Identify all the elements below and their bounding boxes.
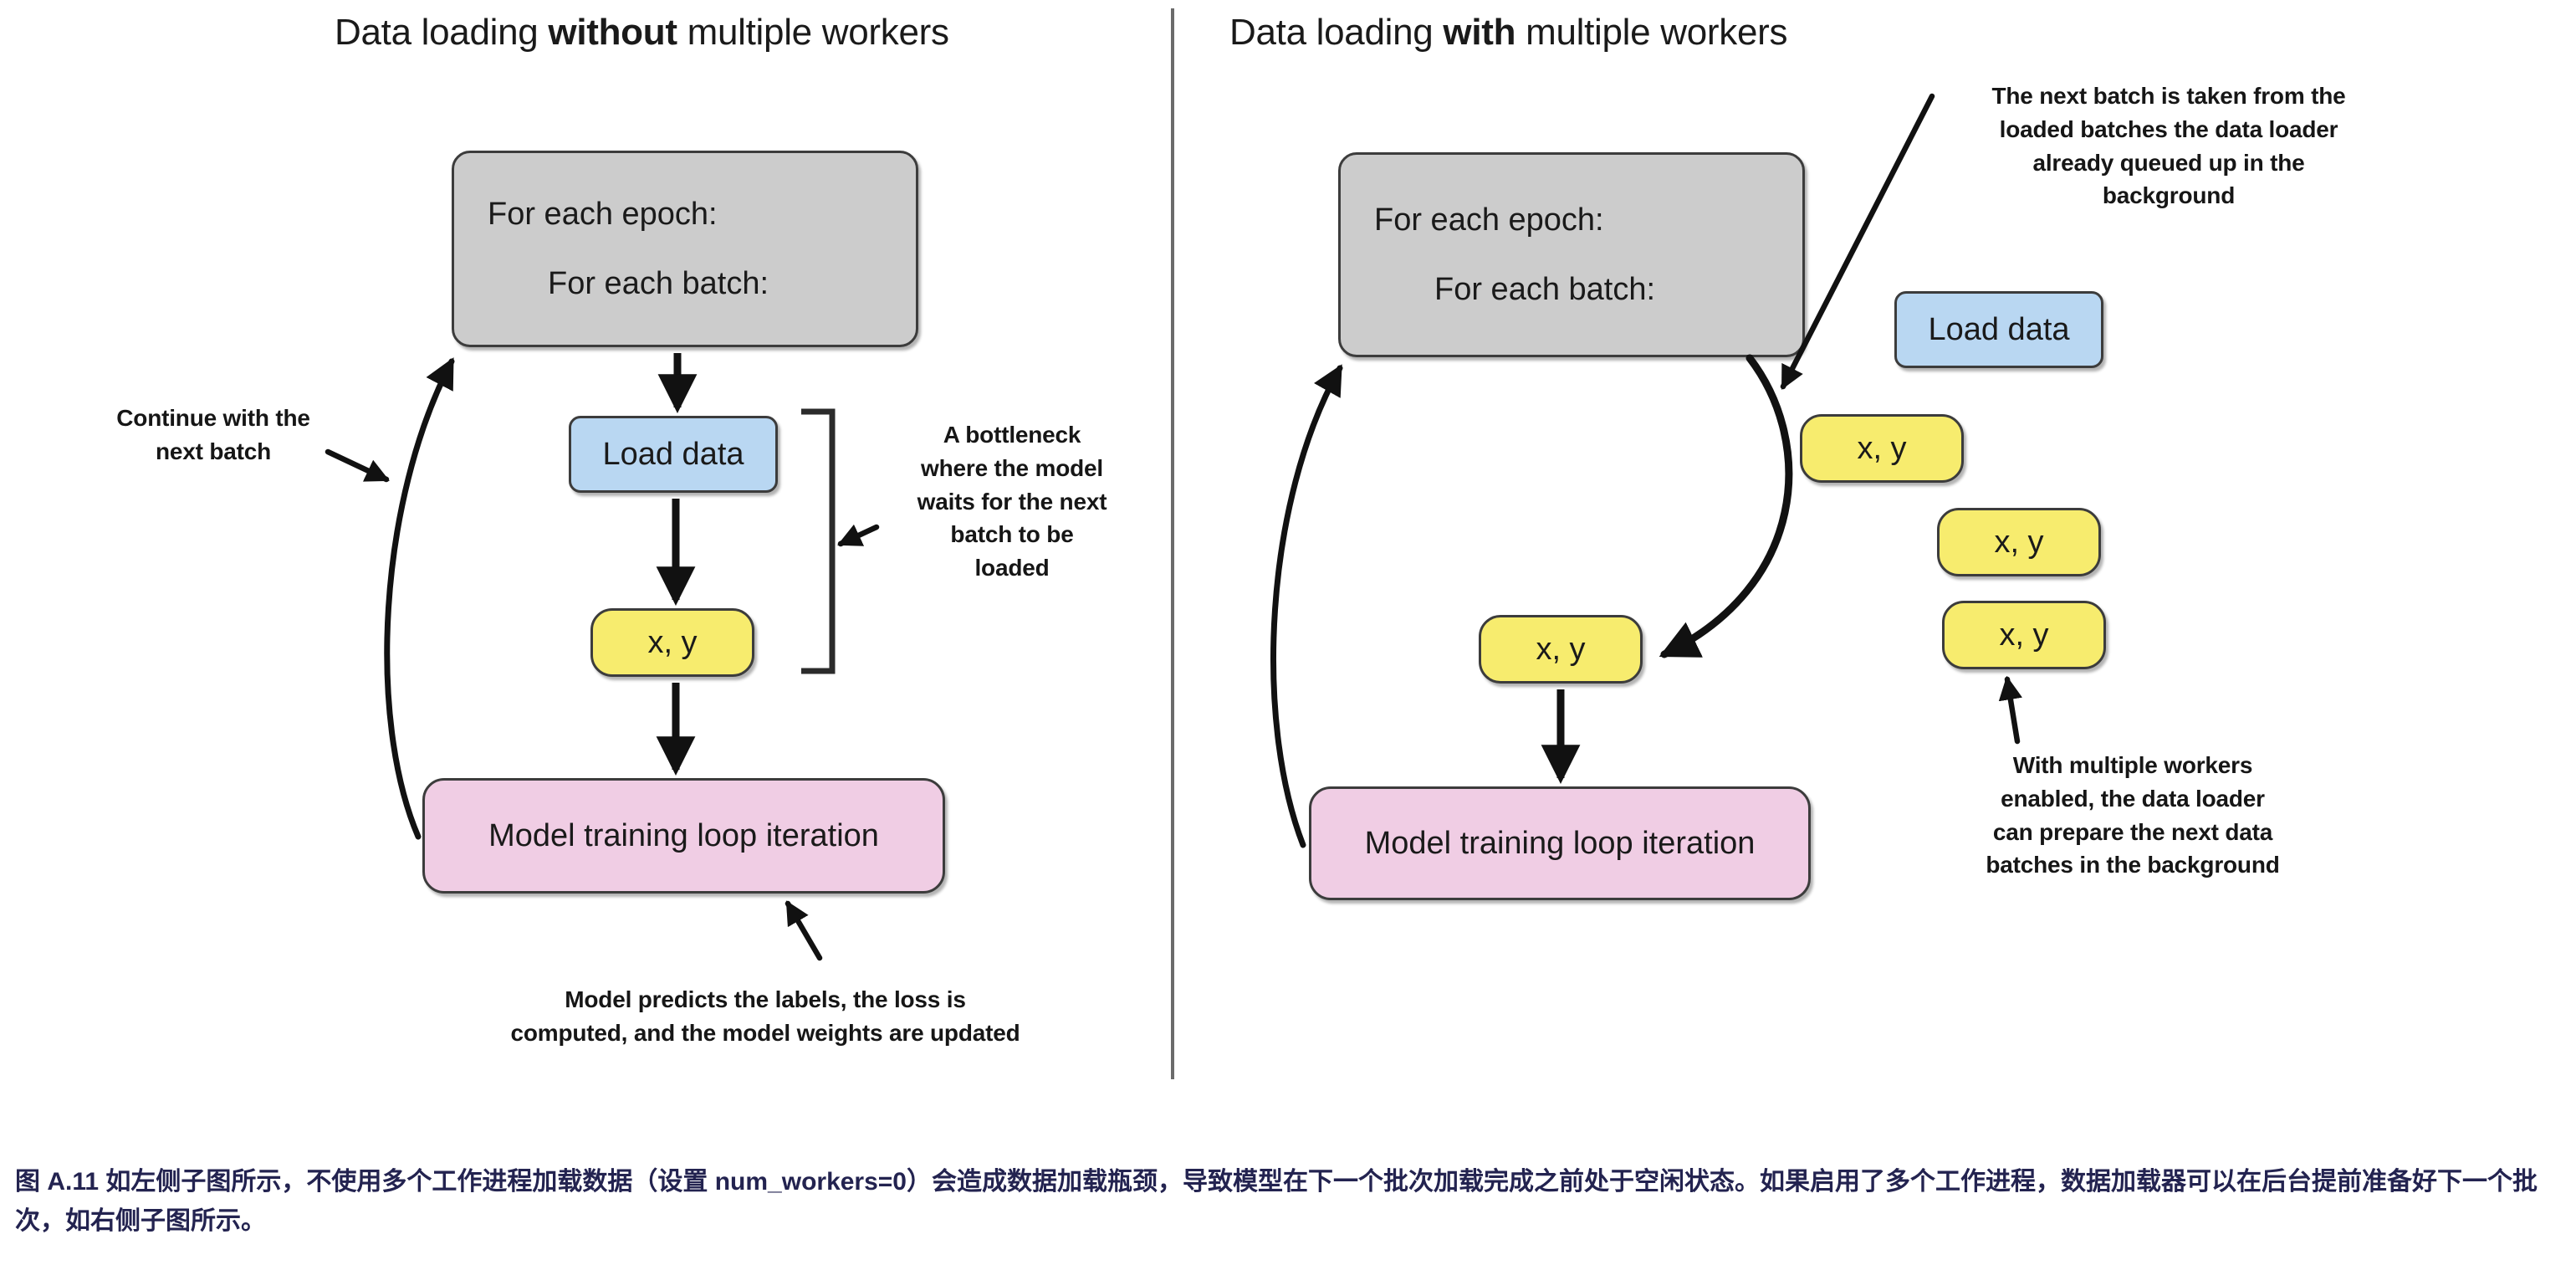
right-current-xy-label: x, y: [1536, 632, 1585, 668]
panel-divider: [1171, 8, 1174, 1079]
right-panel-title: Data loading with multiple workers: [1229, 12, 1787, 54]
right-training-label: Model training loop iteration: [1365, 826, 1756, 862]
right-loop-box: For each epoch: For each batch:: [1338, 152, 1805, 357]
annotation-multiple-workers: With multiple workers enabled, the data …: [1949, 749, 2317, 882]
right-title-emphasis: with: [1443, 12, 1515, 53]
left-training-box: Model training loop iteration: [422, 778, 945, 894]
left-load-data-label: Load data: [602, 437, 744, 473]
right-title-prefix: Data loading: [1229, 12, 1443, 53]
right-queued-xy-box-2: x, y: [1937, 508, 2101, 576]
left-model-predicts-pointer-arrow: [788, 904, 820, 958]
right-queued-xy-label-3: x, y: [1999, 617, 2048, 653]
left-bottleneck-bracket: [801, 412, 832, 671]
left-load-data-box: Load data: [569, 416, 778, 493]
right-queued-xy-box-1: x, y: [1800, 414, 1964, 483]
left-bottleneck-pointer-arrow: [841, 527, 877, 544]
left-panel-title: Data loading without multiple workers: [335, 12, 949, 54]
annotation-continue-next-batch: Continue with the next batch: [92, 402, 335, 469]
right-dequeue-curve-arrow: [1664, 358, 1789, 654]
right-loopback-arrow: [1274, 368, 1340, 845]
right-queued-xy-box-3: x, y: [1942, 601, 2106, 669]
left-title-suffix: multiple workers: [677, 12, 949, 53]
left-loop-line-batch: For each batch:: [548, 266, 769, 302]
figure-canvas: Data loading without multiple workers Da…: [0, 0, 2576, 1265]
right-workers-pointer-arrow: [2007, 679, 2017, 741]
right-queued-xy-label-1: x, y: [1857, 431, 1906, 467]
right-queued-xy-label-2: x, y: [1994, 525, 2043, 561]
right-load-data-label: Load data: [1928, 312, 2069, 348]
left-xy-box: x, y: [590, 608, 754, 677]
left-xy-label: x, y: [647, 625, 697, 661]
right-loop-line-epoch: For each epoch:: [1374, 202, 1604, 238]
annotation-bottleneck: A bottleneck where the model waits for t…: [887, 418, 1137, 585]
figure-caption: 图 A.11 如左侧子图所示，不使用多个工作进程加载数据（设置 num_work…: [15, 1163, 2562, 1241]
right-load-data-box: Load data: [1894, 291, 2103, 368]
right-loop-line-batch: For each batch:: [1434, 272, 1655, 308]
annotation-model-predicts: Model predicts the labels, the loss is c…: [427, 983, 1104, 1050]
left-continue-pointer-arrow: [328, 452, 386, 479]
left-training-label: Model training loop iteration: [488, 818, 879, 854]
right-current-xy-box: x, y: [1479, 615, 1643, 684]
right-training-box: Model training loop iteration: [1309, 786, 1811, 900]
left-loopback-arrow: [387, 361, 452, 837]
left-title-emphasis: without: [548, 12, 677, 53]
right-title-suffix: multiple workers: [1515, 12, 1787, 53]
annotation-next-batch: The next batch is taken from the loaded …: [1947, 79, 2390, 213]
left-title-prefix: Data loading: [335, 12, 548, 53]
left-loop-box: For each epoch: For each batch:: [452, 151, 918, 347]
left-loop-line-epoch: For each epoch:: [488, 197, 718, 233]
